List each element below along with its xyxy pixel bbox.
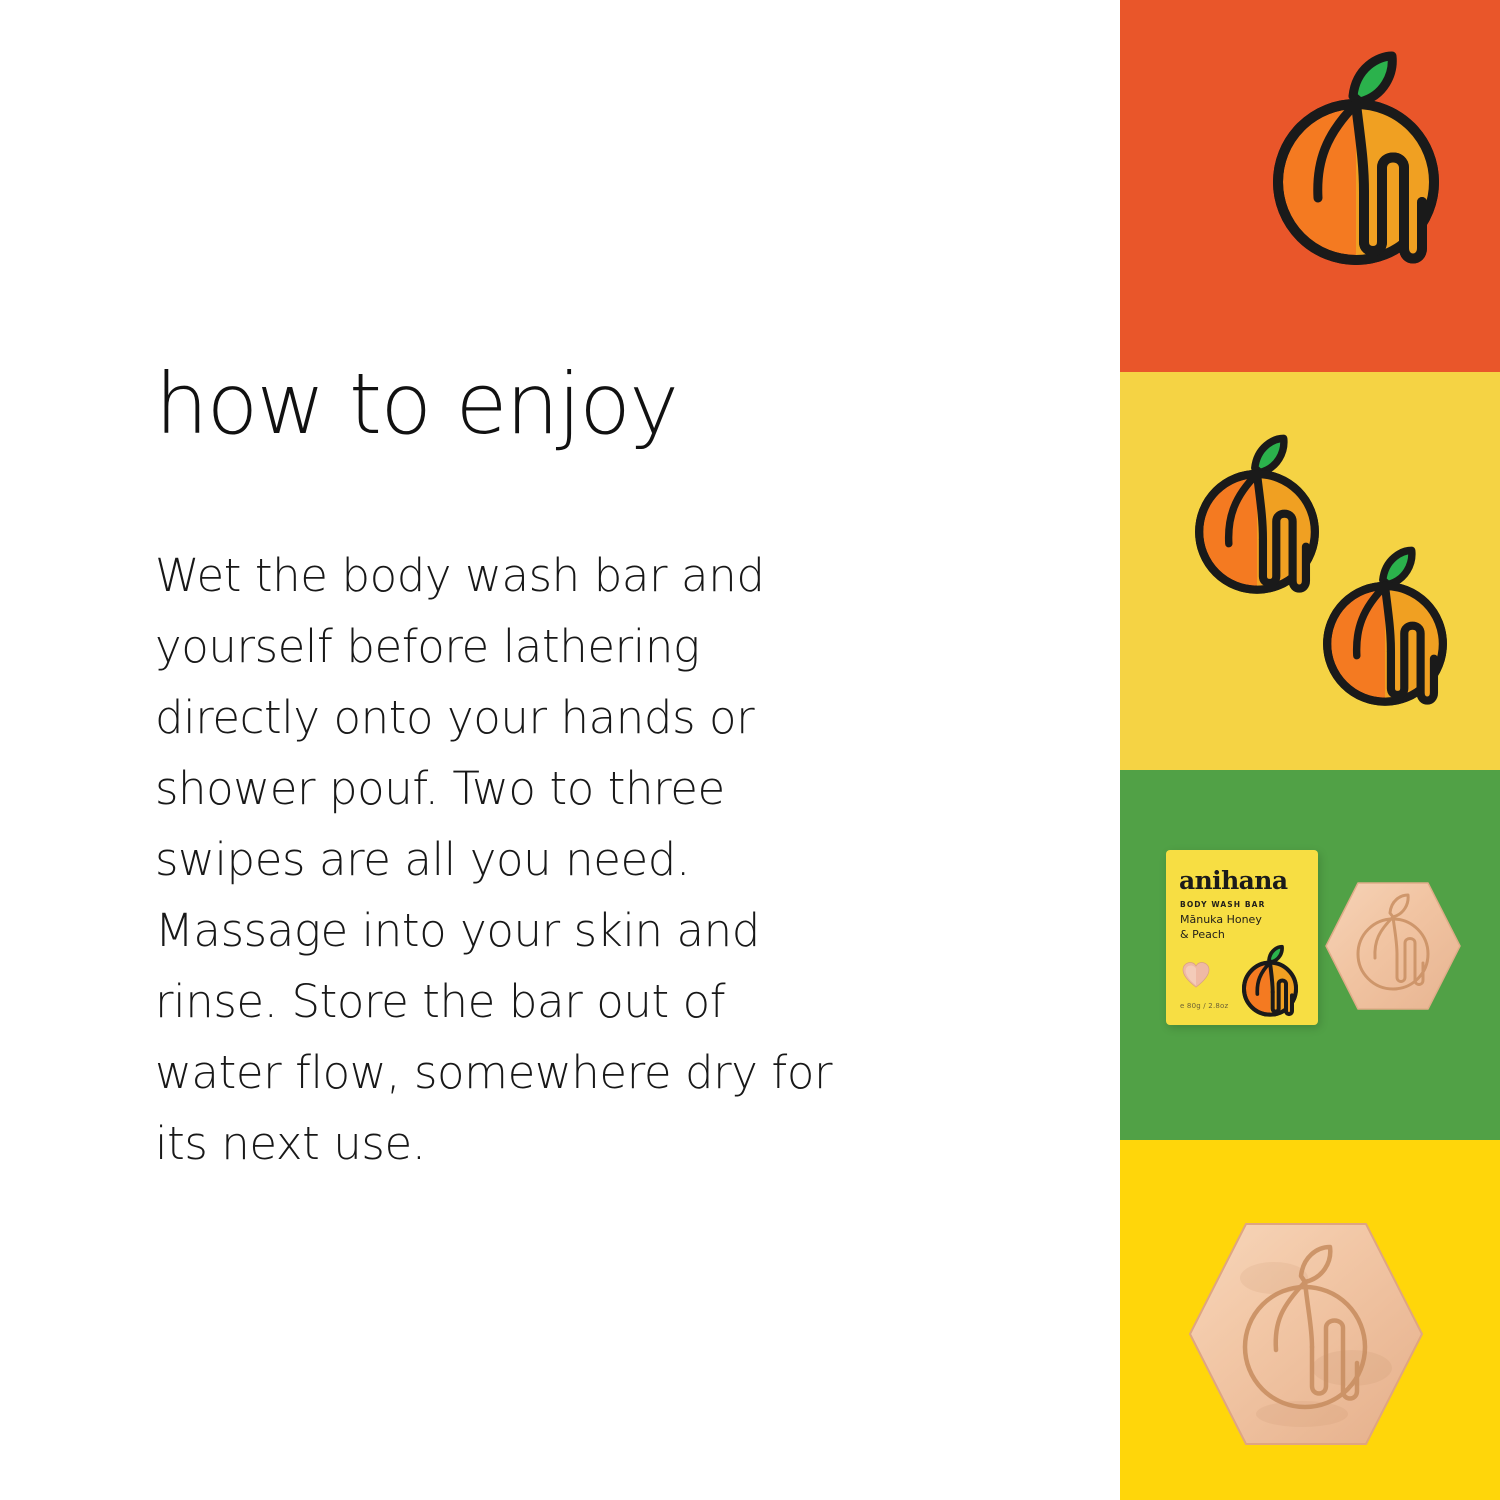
image-panel-strip: anihana BODY WASH BAR Mānuka Honey & Pea… xyxy=(1120,0,1500,1500)
copy-column: how to enjoy Wet the body wash bar and y… xyxy=(155,0,855,1500)
product-marketing-image: how to enjoy Wet the body wash bar and y… xyxy=(0,0,1500,1500)
peach-icon xyxy=(1256,42,1456,282)
soap-bar-hexagon xyxy=(1322,878,1464,1014)
product-box: anihana BODY WASH BAR Mānuka Honey & Pea… xyxy=(1166,850,1318,1025)
box-variant-line-2: & Peach xyxy=(1180,928,1225,942)
box-variant-line-1: Mānuka Honey xyxy=(1180,913,1262,927)
product-panel-green: anihana BODY WASH BAR Mānuka Honey & Pea… xyxy=(1120,770,1500,1140)
box-brand-wordmark: anihana xyxy=(1179,866,1287,895)
heart-soap-swatch xyxy=(1182,962,1210,988)
box-net-weight: e 80g / 2.8oz xyxy=(1180,1002,1228,1010)
instructions-paragraph: Wet the body wash bar and yourself befor… xyxy=(155,540,845,1179)
peach-icon-panel-orange xyxy=(1120,0,1500,372)
peach-icon-panel-yellow xyxy=(1120,372,1500,770)
peach-icon-lower-right xyxy=(1310,540,1460,718)
soap-bar-hexagon-large xyxy=(1184,1218,1428,1450)
box-peach-icon xyxy=(1234,942,1306,1022)
page-title: how to enjoy xyxy=(155,362,677,446)
soap-bar-panel-gold xyxy=(1120,1140,1500,1500)
box-product-type: BODY WASH BAR xyxy=(1180,900,1265,909)
